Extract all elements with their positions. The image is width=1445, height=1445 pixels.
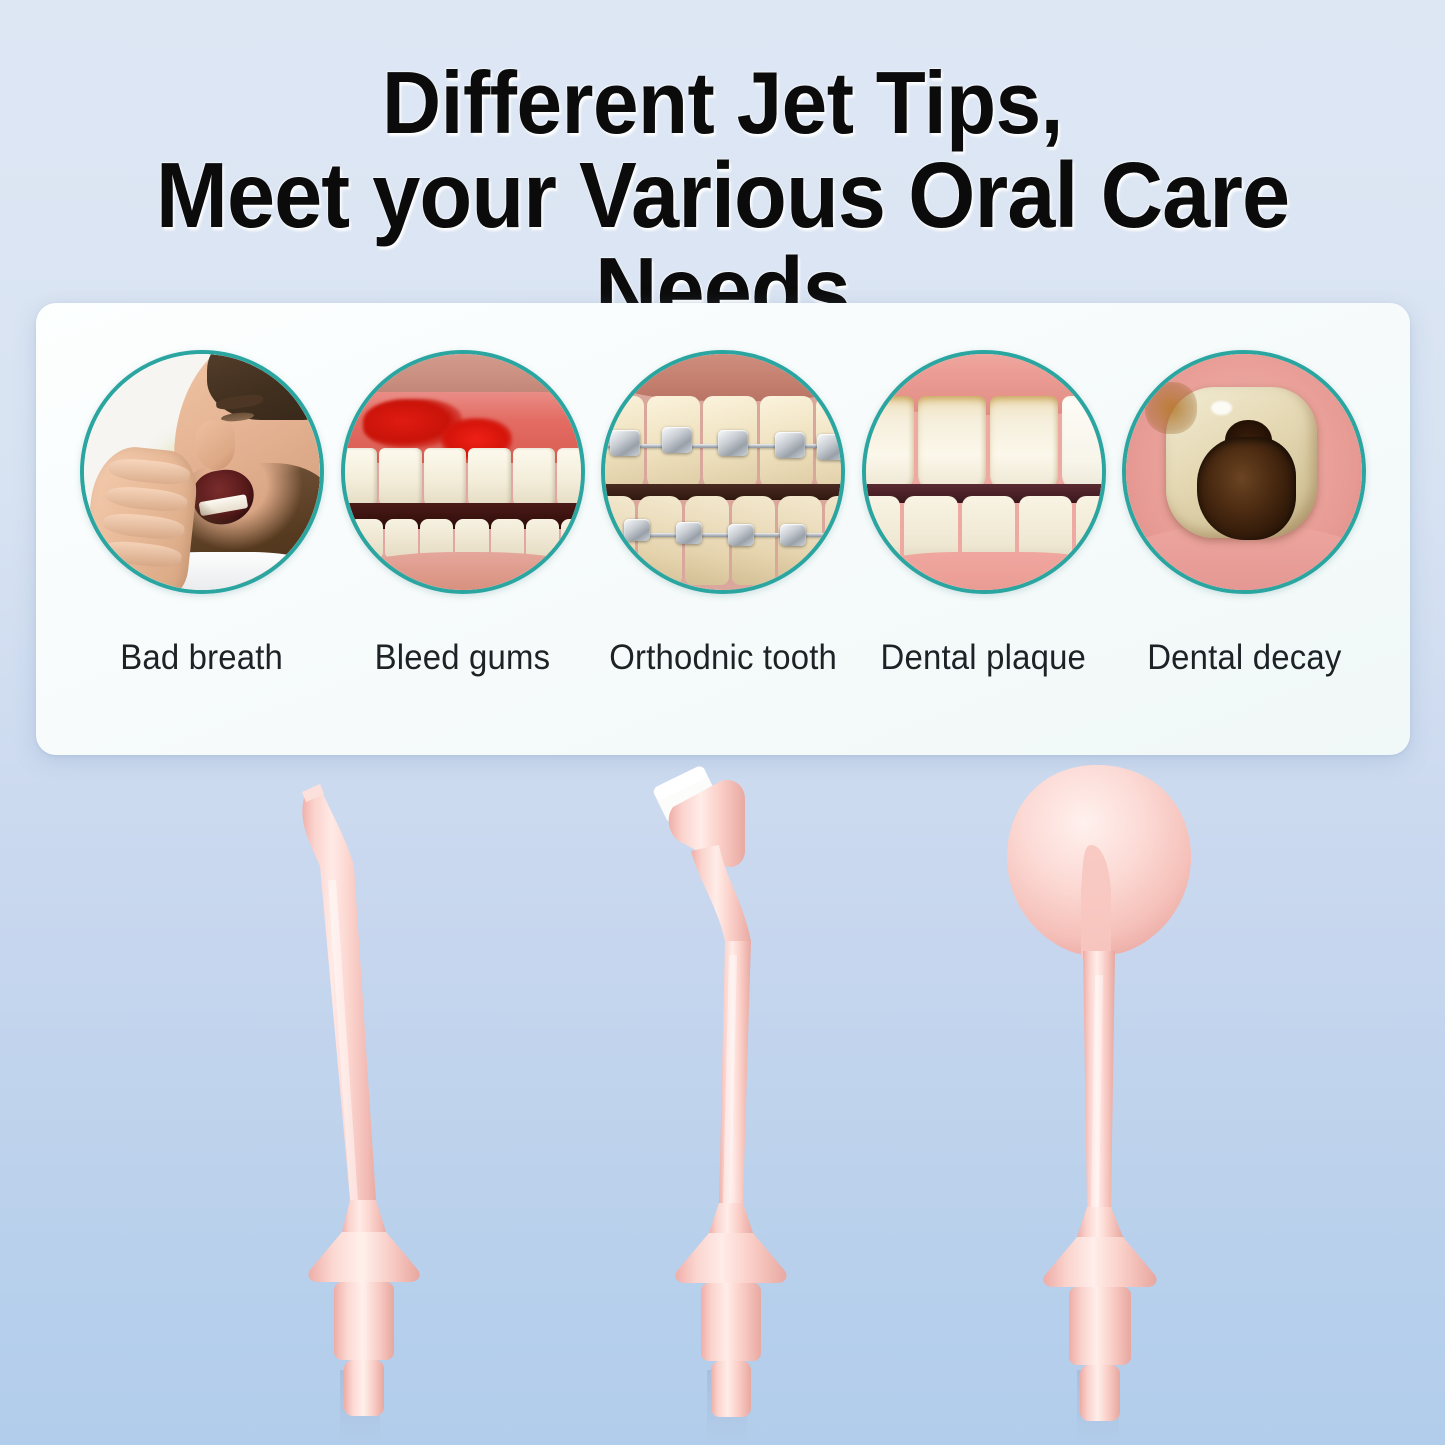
bleeding-gums-photo [341,350,585,594]
use-case-dental-plaque: Dental plaque [860,350,1108,755]
dental-decay-photo [1122,350,1366,594]
use-case-bleed-gums: Bleed gums [339,350,587,755]
jet-tip-standard [258,770,478,1445]
use-case-label: Dental decay [1147,638,1341,678]
headline-line-1: Different Jet Tips, [51,58,1395,148]
use-cases-row: Bad breath Bleed gums [36,303,1410,755]
use-case-label: Orthodnic tooth [609,638,837,678]
use-case-label: Dental plaque [881,638,1086,678]
page-title: Different Jet Tips, Meet your Various Or… [51,58,1395,337]
use-case-label: Bad breath [121,638,284,678]
braces-photo [601,350,845,594]
use-case-label: Bleed gums [375,638,551,678]
bad-breath-photo [80,350,324,594]
jet-tips-group [0,755,1445,1445]
jet-tip-tongue-cleaner [985,745,1225,1445]
use-cases-card: Bad breath Bleed gums [36,303,1410,755]
use-case-bad-breath: Bad breath [78,350,326,755]
dental-plaque-photo [862,350,1106,594]
jet-tip-orthodontic-brush [625,755,845,1445]
product-feature-poster: Different Jet Tips, Meet your Various Or… [0,0,1445,1445]
use-case-orthodontic: Orthodnic tooth [599,350,847,755]
use-case-dental-decay: Dental decay [1120,350,1368,755]
